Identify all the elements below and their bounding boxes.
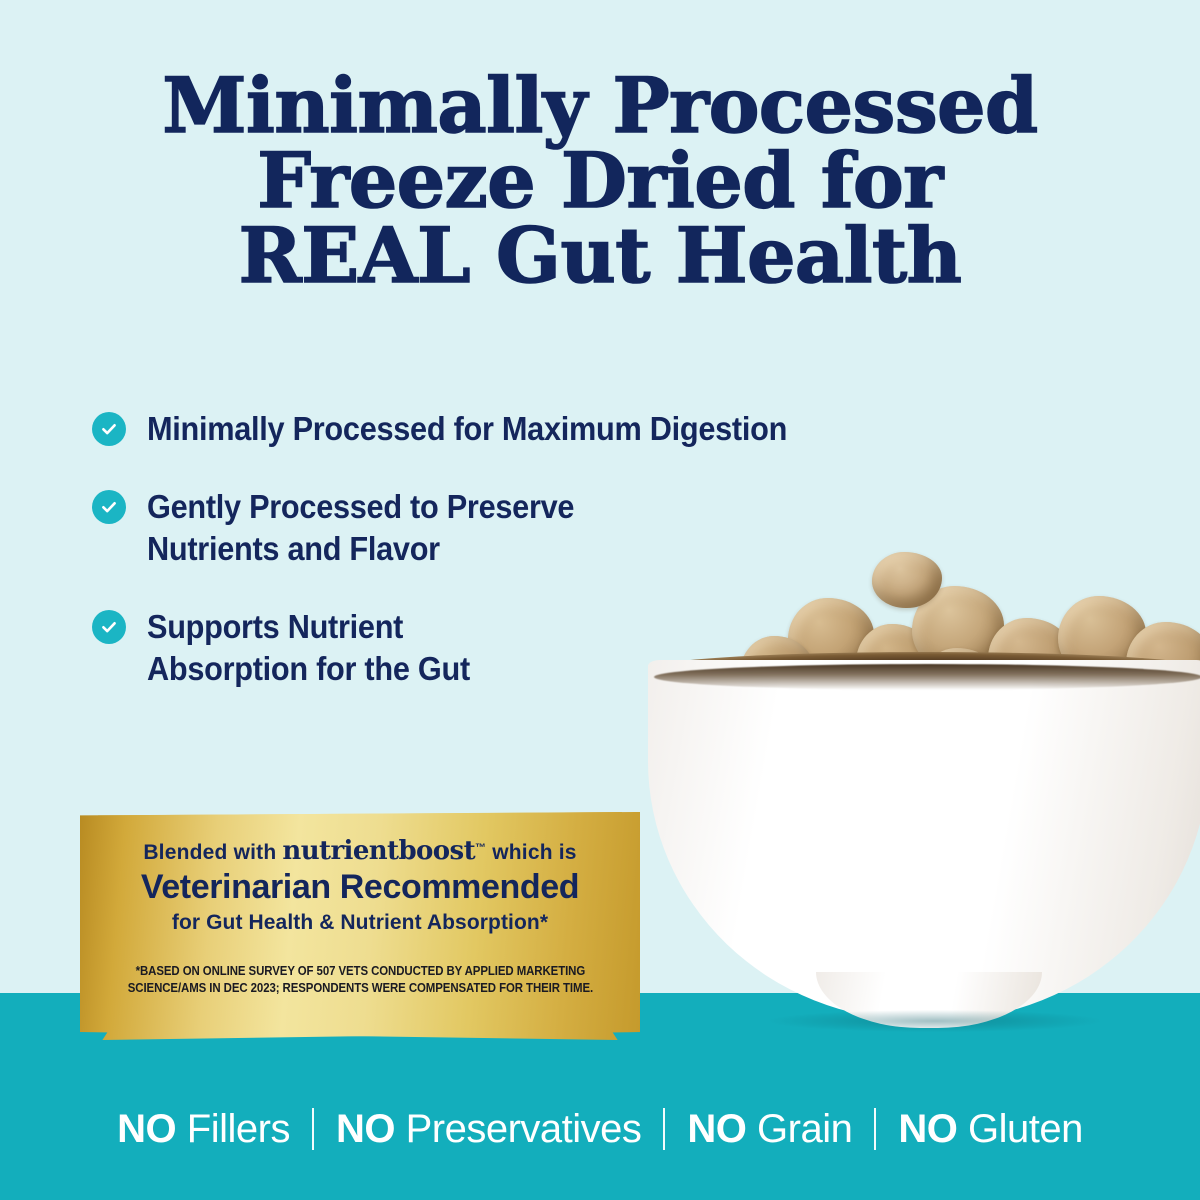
claim-preservatives: NO Preservatives	[336, 1107, 641, 1152]
headline-line-3: REAL Gut Health	[0, 218, 1200, 293]
claim-value: Fillers	[187, 1107, 290, 1151]
benefit-text: Gently Processed to Preserve Nutrients a…	[147, 486, 574, 570]
promo-graphic: Minimally Processed Freeze Dried for REA…	[0, 0, 1200, 1200]
claim-no-label: NO	[336, 1107, 395, 1151]
page-title: Minimally Processed Freeze Dried for REA…	[0, 68, 1200, 294]
claim-separator	[312, 1108, 314, 1150]
fine-print-line-2: SCIENCE/AMS IN DEC 2023; RESPONDENTS WER…	[127, 980, 592, 997]
nutrientboost-wordmark: nutrientboost	[282, 836, 475, 866]
claim-fillers: NO Fillers	[117, 1107, 290, 1152]
trademark-symbol: ™	[475, 842, 486, 854]
badge-subline: for Gut Health & Nutrient Absorption*	[172, 911, 548, 935]
check-circle-icon	[92, 610, 126, 644]
badge-line-1-suffix: which is	[486, 841, 577, 864]
footer-claims-bar: NO Fillers NO Preservatives NO Grain NO …	[0, 1093, 1200, 1165]
badge-line-1-prefix: Blended with	[143, 841, 282, 864]
claim-no-label: NO	[117, 1107, 176, 1151]
check-circle-icon	[92, 412, 126, 446]
claim-separator	[663, 1108, 665, 1150]
benefits-list: Minimally Processed for Maximum Digestio…	[92, 408, 992, 726]
badge-fine-print: *BASED ON ONLINE SURVEY OF 507 VETS COND…	[127, 963, 592, 996]
list-item: Gently Processed to Preserve Nutrients a…	[92, 486, 992, 570]
claim-value: Gluten	[968, 1107, 1083, 1151]
check-circle-icon	[92, 490, 126, 524]
claim-grain: NO Grain	[687, 1107, 852, 1152]
claim-gluten: NO Gluten	[898, 1107, 1082, 1152]
claim-no-label: NO	[898, 1107, 957, 1151]
bowl-shadow	[770, 1010, 1100, 1032]
vet-recommended-badge: Blended with nutrientboost™ which is Vet…	[80, 812, 640, 1040]
list-item: Minimally Processed for Maximum Digestio…	[92, 408, 992, 450]
claim-no-label: NO	[687, 1107, 746, 1151]
claim-value: Grain	[757, 1107, 852, 1151]
fine-print-line-1: *BASED ON ONLINE SURVEY OF 507 VETS COND…	[127, 963, 592, 980]
badge-headline: Veterinarian Recommended	[141, 868, 579, 907]
headline-line-1: Minimally Processed	[0, 68, 1200, 143]
claim-value: Preservatives	[406, 1107, 642, 1151]
list-item: Supports Nutrient Absorption for the Gut	[92, 606, 992, 690]
benefit-text: Minimally Processed for Maximum Digestio…	[147, 408, 787, 450]
headline-line-2: Freeze Dried for	[0, 143, 1200, 218]
claim-separator	[874, 1108, 876, 1150]
benefit-text: Supports Nutrient Absorption for the Gut	[147, 606, 470, 690]
badge-line-1: Blended with nutrientboost™ which is	[143, 836, 576, 866]
